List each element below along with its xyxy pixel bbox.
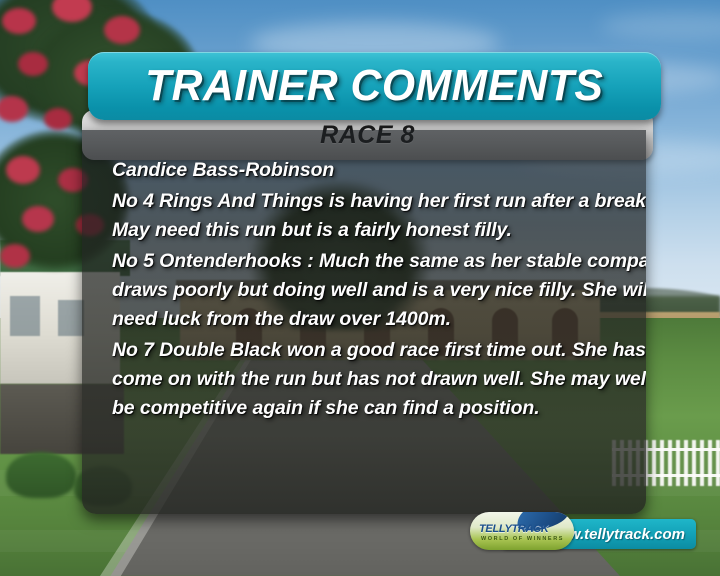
comment-line: be competitive again if she can find a p… <box>112 394 632 423</box>
building-window <box>10 296 40 336</box>
tree-blossom <box>104 16 140 44</box>
logo-tagline: WORLD OF WINNERS <box>481 536 564 542</box>
broadcast-graphic-screen: RACE 8 TRAINER COMMENTS Candice Bass-Rob… <box>0 0 720 576</box>
tree-blossom <box>0 244 30 268</box>
comments-body: Candice Bass-Robinson No 4 Rings And Thi… <box>112 156 632 425</box>
trainer-name: Candice Bass-Robinson <box>112 156 632 185</box>
comment-line: draws poorly but doing well and is a ver… <box>112 276 632 305</box>
comment-entry: No 5 Ontenderhooks : Much the same as he… <box>112 247 632 334</box>
trainer-comments-card: RACE 8 TRAINER COMMENTS Candice Bass-Rob… <box>82 52 646 514</box>
tellytrack-logo[interactable]: TELLYTRACK WORLD OF WINNERS <box>470 512 574 550</box>
tree-blossom <box>2 8 36 34</box>
comment-line: No 5 Ontenderhooks : Much the same as he… <box>112 247 632 276</box>
tree-blossom <box>18 52 48 76</box>
title-bar: TRAINER COMMENTS <box>88 52 661 120</box>
comment-entry: No 7 Double Black won a good race first … <box>112 336 632 423</box>
comment-line: No 7 Double Black won a good race first … <box>112 336 632 365</box>
comment-line: come on with the run but has not drawn w… <box>112 365 632 394</box>
logo-wordmark: TELLYTRACK <box>479 523 549 535</box>
comments-panel: Candice Bass-Robinson No 4 Rings And Thi… <box>82 130 646 514</box>
comment-line: need luck from the draw over 1400m. <box>112 305 632 334</box>
comment-entry: No 4 Rings And Things is having her firs… <box>112 187 632 245</box>
comment-line: No 4 Rings And Things is having her firs… <box>112 187 632 216</box>
page-title: TRAINER COMMENTS <box>145 61 603 111</box>
tree-blossom <box>6 156 40 184</box>
tree-blossom <box>44 108 72 130</box>
shrub <box>6 452 76 498</box>
trainer-name-block: Candice Bass-Robinson <box>112 156 632 185</box>
building-window <box>58 300 84 336</box>
comment-line: May need this run but is a fairly honest… <box>112 216 632 245</box>
tree-blossom <box>22 206 54 232</box>
